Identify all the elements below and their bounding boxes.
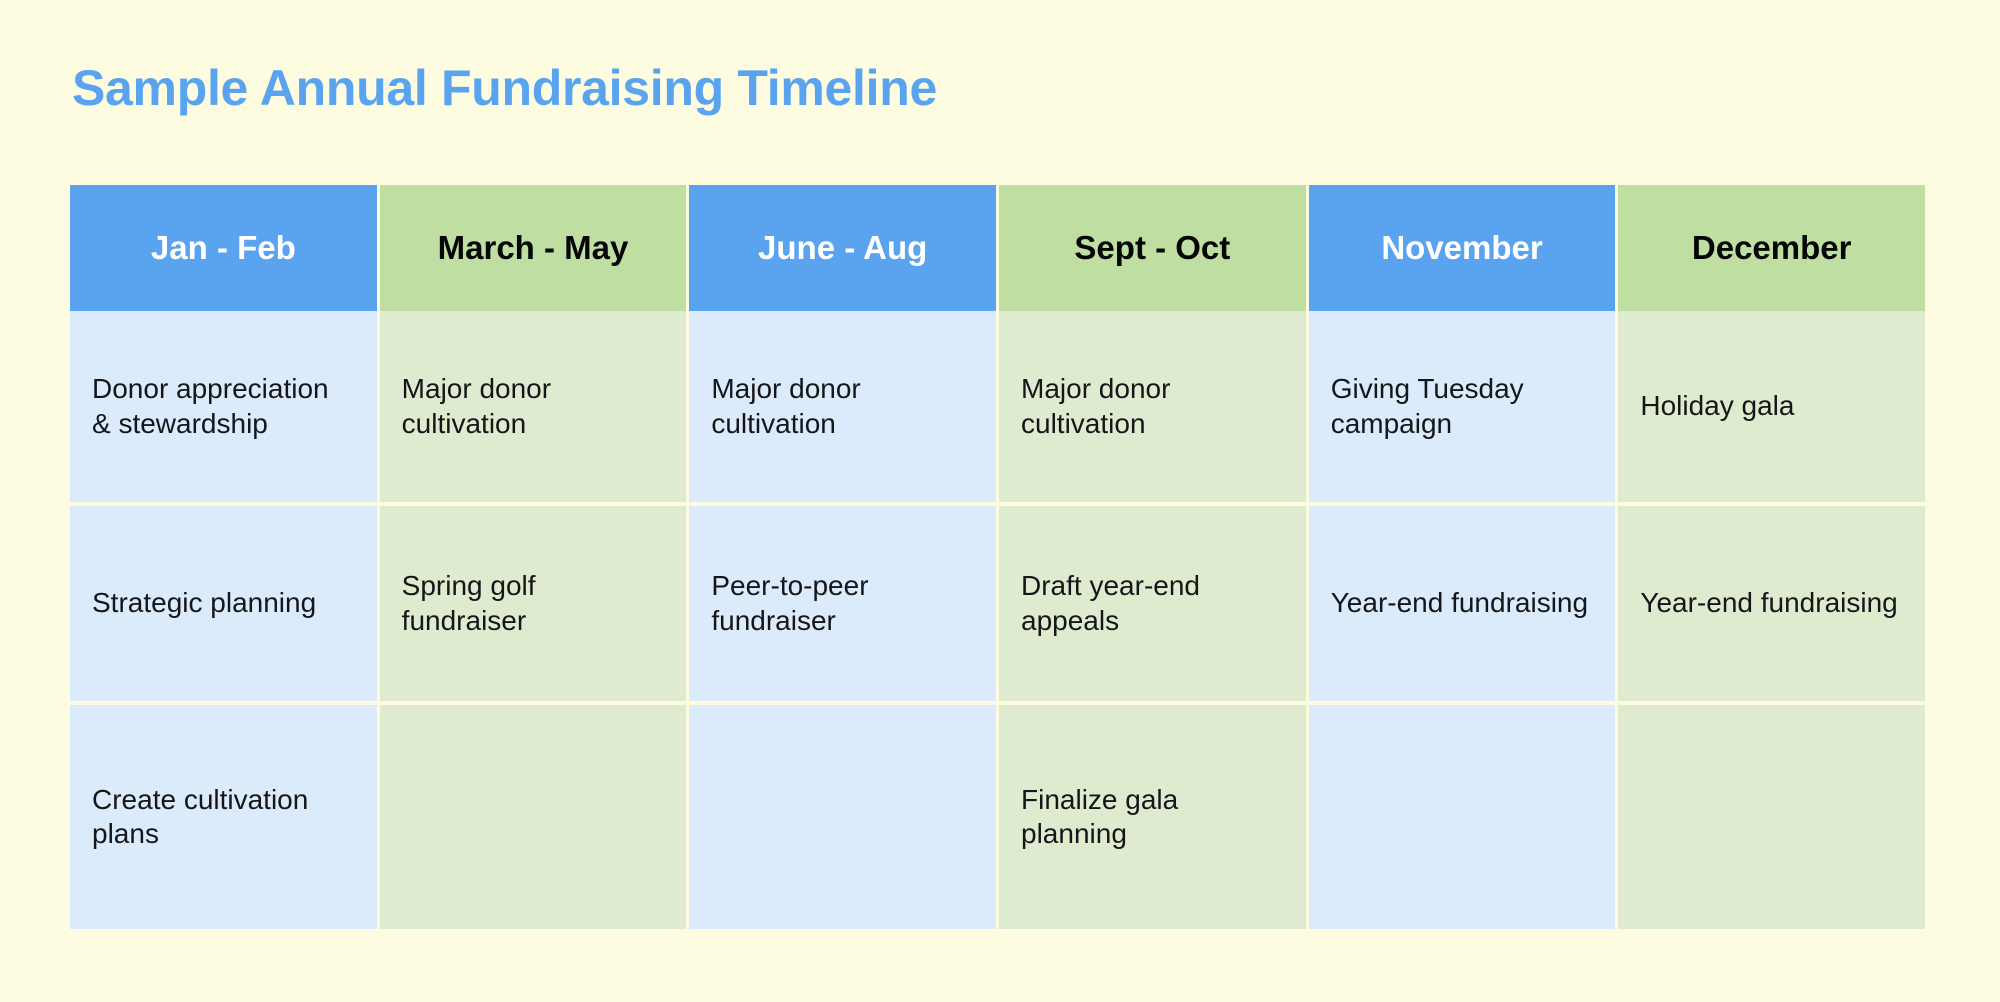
cell-text: Spring golf fundraiser [402,569,665,637]
column-header-june-aug: June - Aug [689,185,999,311]
cell-r2-c5: Year-end fundraising [1309,502,1619,701]
cell-text: Year-end fundraising [1640,586,1897,620]
cell-r1-c4: Major donor cultivation [999,311,1309,502]
column-header-march-may: March - May [380,185,690,311]
cell-r2-c2: Spring golf fundraiser [380,502,690,701]
cell-text: Peer-to-peer fundraiser [711,569,974,637]
cell-text: Year-end fundraising [1331,586,1588,620]
fundraising-timeline-page: Sample Annual Fundraising Timeline Jan -… [0,0,2000,1002]
cell-r1-c3: Major donor cultivation [689,311,999,502]
cell-r2-c4: Draft year-end appeals [999,502,1309,701]
cell-r1-c1: Donor appreciation & stewardship [70,311,380,502]
cell-text: Major donor cultivation [402,372,665,440]
cell-r1-c5: Giving Tuesday campaign [1309,311,1619,502]
cell-text: Donor appreciation & stewardship [92,372,355,440]
cell-text: Major donor cultivation [711,372,974,440]
cell-text: Major donor cultivation [1021,372,1284,440]
cell-text: Create cultivation plans [92,783,355,851]
cell-r3-c6 [1618,701,1925,929]
table-row: Strategic planning Spring golf fundraise… [70,502,1925,701]
column-header-december: December [1618,185,1925,311]
cell-r3-c1: Create cultivation plans [70,701,380,929]
table-row: Create cultivation plans Finalize gala p… [70,701,1925,929]
cell-r2-c6: Year-end fundraising [1618,502,1925,701]
cell-r2-c3: Peer-to-peer fundraiser [689,502,999,701]
cell-text: Finalize gala planning [1021,783,1284,851]
cell-r1-c6: Holiday gala [1618,311,1925,502]
cell-r3-c4: Finalize gala planning [999,701,1309,929]
cell-text: Strategic planning [92,586,316,620]
column-header-november: November [1309,185,1619,311]
table-body: Donor appreciation & stewardship Major d… [70,311,1925,929]
cell-text: Draft year-end appeals [1021,569,1284,637]
cell-r3-c2 [380,701,690,929]
cell-r1-c2: Major donor cultivation [380,311,690,502]
cell-text: Holiday gala [1640,389,1794,423]
column-header-jan-feb: Jan - Feb [70,185,380,311]
column-header-sept-oct: Sept - Oct [999,185,1309,311]
cell-text: Giving Tuesday campaign [1331,372,1594,440]
cell-r3-c3 [689,701,999,929]
table-row: Donor appreciation & stewardship Major d… [70,311,1925,502]
page-title: Sample Annual Fundraising Timeline [72,58,937,118]
fundraising-timeline-table: Jan - Feb March - May June - Aug Sept - … [70,185,1925,929]
table-header-row: Jan - Feb March - May June - Aug Sept - … [70,185,1925,311]
cell-r2-c1: Strategic planning [70,502,380,701]
cell-r3-c5 [1309,701,1619,929]
